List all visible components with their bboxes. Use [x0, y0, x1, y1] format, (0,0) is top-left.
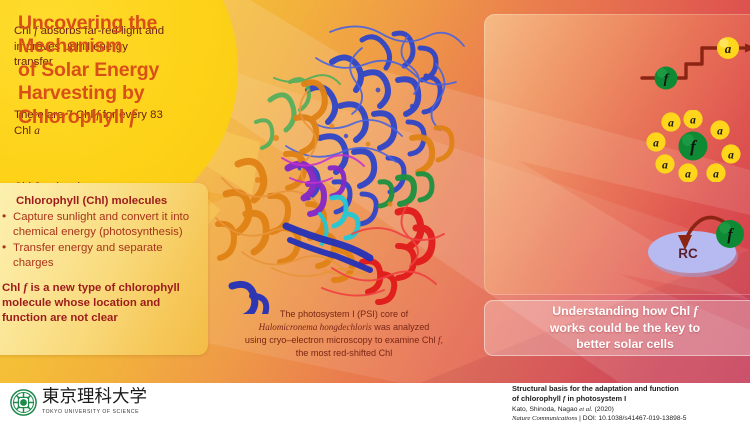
chl-ratio-diagram: a a a a a a a — [638, 110, 748, 182]
citation-title-line-2a: of chlorophyll — [512, 394, 563, 403]
chl-a-node: a — [706, 163, 725, 182]
chl-a-node: a — [678, 163, 697, 182]
citation-authors: Kato, Shinoda, Nagao et al. (2020) — [512, 405, 744, 415]
chl-a-label: a — [728, 150, 734, 162]
university-logo: 東京理科大学 TOKYO UNIVERSITY OF SCIENCE — [10, 387, 147, 417]
title-line-1: Uncovering the — [18, 12, 228, 35]
conclusion-highlight-box: Understanding how Chl f works could be t… — [484, 300, 750, 356]
conclusion-text: Understanding how Chl f works could be t… — [550, 303, 700, 352]
chl-a-node: a — [661, 112, 680, 131]
chlorophyll-info-card: Chlorophyll (Chl) molecules Capture sunl… — [0, 183, 208, 355]
citation-journal-name: Nature Communications — [512, 415, 577, 422]
chl-a-label: a — [685, 169, 691, 181]
citation-block: Structural basis for the adaptation and … — [512, 384, 744, 422]
tus-emblem-icon — [10, 389, 37, 416]
conclusion-line-2: works could be the key to — [550, 321, 700, 335]
citation-year: (2020) — [593, 406, 614, 413]
chl-a-label: a — [725, 41, 732, 56]
caption-line-1: The photosystem I (PSI) core of — [208, 308, 480, 321]
transfer-arrow-head — [745, 44, 750, 53]
chl-f-node: f — [716, 220, 744, 248]
conclusion-line-3: better solar cells — [576, 337, 674, 351]
caption-line-3: using cryo–electron microscopy to examin… — [208, 334, 480, 347]
list-item: Capture sunlight and convert it into che… — [2, 210, 196, 240]
caption-line-3-b: , — [441, 335, 444, 345]
chl-f-center-node: f — [679, 132, 708, 161]
citation-title: Structural basis for the adaptation and … — [512, 384, 744, 403]
conclusion-line-1-a: Understanding how Chl — [552, 304, 693, 318]
chl-a-label: a — [690, 115, 696, 127]
left-card-footer-note: Chl f is a new type of chlorophyll molec… — [2, 281, 196, 326]
left-card-bullet-list: Capture sunlight and convert it into che… — [2, 210, 196, 272]
caption-line-3-a: using cryo–electron microscopy to examin… — [245, 335, 438, 345]
citation-author-names: Kato, Shinoda, Nagao — [512, 406, 579, 413]
chl-a-label: a — [662, 160, 668, 172]
chl-a-node: a — [646, 132, 665, 151]
infographic-root: Uncovering the Mechanism of Solar Energy… — [0, 0, 750, 422]
rc-label: RC — [678, 246, 698, 261]
title-chlorophyll-f-symbol: f — [129, 107, 135, 128]
title-line-2: Mechanism — [18, 35, 228, 58]
chl-f-node: f — [655, 67, 678, 90]
conclusion-chl-f-symbol: f — [694, 304, 698, 318]
university-name-en: TOKYO UNIVERSITY OF SCIENCE — [42, 409, 147, 415]
title-line-5-text: Chlorophyll — [18, 106, 129, 128]
citation-title-line-1: Structural basis for the adaptation and … — [512, 384, 679, 393]
chl-a-node: a — [721, 144, 740, 163]
university-name-ja: 東京理科大学 — [42, 389, 147, 407]
energy-staircase-line — [642, 48, 720, 78]
reaction-center-diagram: RC f — [640, 204, 750, 284]
species-name: Halomicronema hongdechloris — [259, 322, 372, 332]
citation-doi: | DOI: 10.1038/s41467-019-13898-5 — [577, 415, 686, 422]
left-card-heading: Chlorophyll (Chl) molecules — [16, 195, 196, 207]
caption-line-4: the most red-shifted Chl — [208, 347, 480, 360]
chl-a-label: a — [668, 118, 674, 130]
citation-etal: et al. — [579, 406, 592, 413]
photosystem-i-structure-image — [212, 18, 474, 314]
chl-a-label: a — [717, 126, 723, 138]
chl-a-node: a — [683, 110, 702, 129]
center-caption: The photosystem I (PSI) core of Halomicr… — [208, 308, 480, 360]
uphill-energy-transfer-diagram: f a — [640, 28, 750, 94]
list-item: Transfer energy and separate charges — [2, 241, 196, 271]
citation-title-line-2b: in photosystem I — [565, 394, 626, 403]
title-line-4: Harvesting by — [18, 82, 228, 105]
caption-line-2: Halomicronema hongdechloris was analyzed — [208, 321, 480, 334]
page-title: Uncovering the Mechanism of Solar Energy… — [18, 12, 228, 129]
footer-note-suffix: is a new type of chlorophyll molecule wh… — [2, 282, 180, 324]
chl-a-node: a — [710, 120, 729, 139]
title-line-3: of Solar Energy — [18, 59, 228, 82]
chl-a-label: a — [713, 169, 719, 181]
caption-line-2-rest: was analyzed — [372, 322, 430, 332]
chl-a-label: a — [653, 138, 659, 150]
chl-a-node: a — [717, 37, 739, 59]
title-line-5: Chlorophyll f — [18, 106, 228, 129]
footer-note-prefix: Chl — [2, 282, 24, 294]
citation-journal-line: Nature Communications | DOI: 10.1038/s41… — [512, 414, 744, 422]
chl-a-node: a — [655, 154, 674, 173]
